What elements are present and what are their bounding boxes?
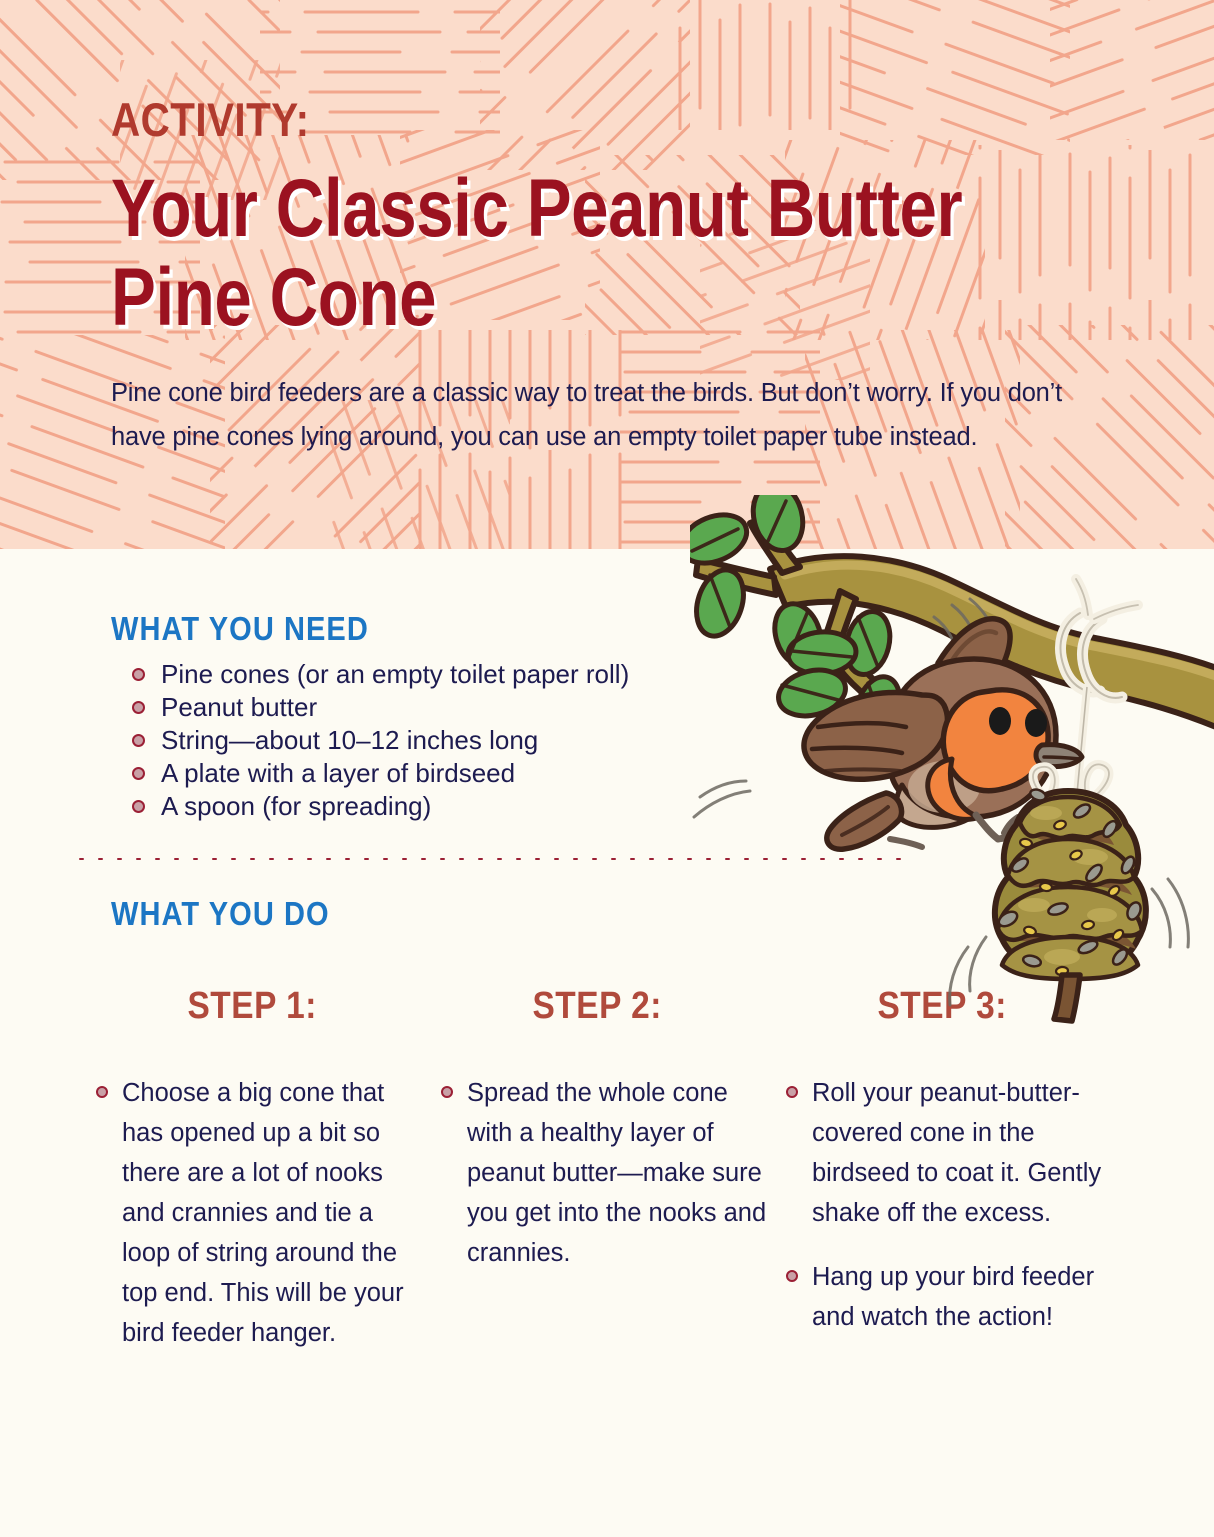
list-item: Choose a big cone that has opened up a b… [96, 1073, 426, 1353]
list-item-label: Roll your peanut-butter-covered cone in … [812, 1079, 1101, 1227]
bullet-dot-icon [786, 1270, 798, 1282]
activity-page: ACTIVITY: Your Classic Peanut Butter Pin… [0, 0, 1214, 1537]
list-item-label: Hang up your bird feeder and watch the a… [812, 1263, 1094, 1331]
list-item: Pine cones (or an empty toilet paper rol… [132, 658, 832, 691]
list-item-label: Choose a big cone that has opened up a b… [122, 1079, 404, 1347]
bullet-dot-icon [132, 767, 145, 780]
step-2-list: Spread the whole cone with a healthy lay… [441, 1073, 771, 1273]
header-band: ACTIVITY: Your Classic Peanut Butter Pin… [0, 0, 1214, 549]
list-item: String—about 10–12 inches long [132, 724, 832, 757]
activity-kicker: ACTIVITY: [111, 96, 980, 143]
step-1-heading: STEP 1: [116, 985, 406, 1029]
bullet-dot-icon [132, 734, 145, 747]
list-item: Hang up your bird feeder and watch the a… [786, 1257, 1116, 1337]
step-3-heading: STEP 3: [806, 985, 1096, 1029]
header-content: ACTIVITY: Your Classic Peanut Butter Pin… [111, 0, 1121, 460]
what-you-need-heading: WHAT YOU NEED [111, 610, 369, 648]
bullet-dot-icon [132, 701, 145, 714]
list-item: A spoon (for spreading) [132, 790, 832, 823]
list-item-label: Spread the whole cone with a healthy lay… [467, 1079, 766, 1267]
list-item: Spread the whole cone with a healthy lay… [441, 1073, 771, 1273]
list-item: Peanut butter [132, 691, 832, 724]
step-1-list: Choose a big cone that has opened up a b… [96, 1073, 426, 1353]
step-2-heading: STEP 2: [461, 985, 751, 1029]
what-you-do-heading: WHAT YOU DO [111, 895, 330, 933]
page-title: Your Classic Peanut Butter Pine Cone [111, 165, 1111, 342]
bullet-dot-icon [132, 800, 145, 813]
step-3-list: Roll your peanut-butter-covered cone in … [786, 1073, 1116, 1337]
list-item-label: Peanut butter [161, 692, 317, 722]
intro-paragraph: Pine cone bird feeders are a classic way… [111, 372, 1111, 460]
list-item-label: A plate with a layer of birdseed [161, 758, 515, 788]
step-column-2: STEP 2: Spread the whole cone with a hea… [441, 985, 771, 1297]
dotted-divider [72, 855, 912, 863]
step-column-1: STEP 1: Choose a big cone that has opene… [96, 985, 426, 1377]
list-item-label: Pine cones (or an empty toilet paper rol… [161, 659, 629, 689]
list-item-label: String—about 10–12 inches long [161, 725, 538, 755]
bullet-dot-icon [96, 1086, 108, 1098]
list-item-label: A spoon (for spreading) [161, 791, 431, 821]
bullet-dot-icon [786, 1086, 798, 1098]
bullet-dot-icon [132, 668, 145, 681]
list-item: A plate with a layer of birdseed [132, 757, 832, 790]
list-item: Roll your peanut-butter-covered cone in … [786, 1073, 1116, 1233]
bullet-dot-icon [441, 1086, 453, 1098]
step-column-3: STEP 3: Roll your peanut-butter-covered … [786, 985, 1116, 1361]
what-you-need-list: Pine cones (or an empty toilet paper rol… [132, 658, 832, 823]
